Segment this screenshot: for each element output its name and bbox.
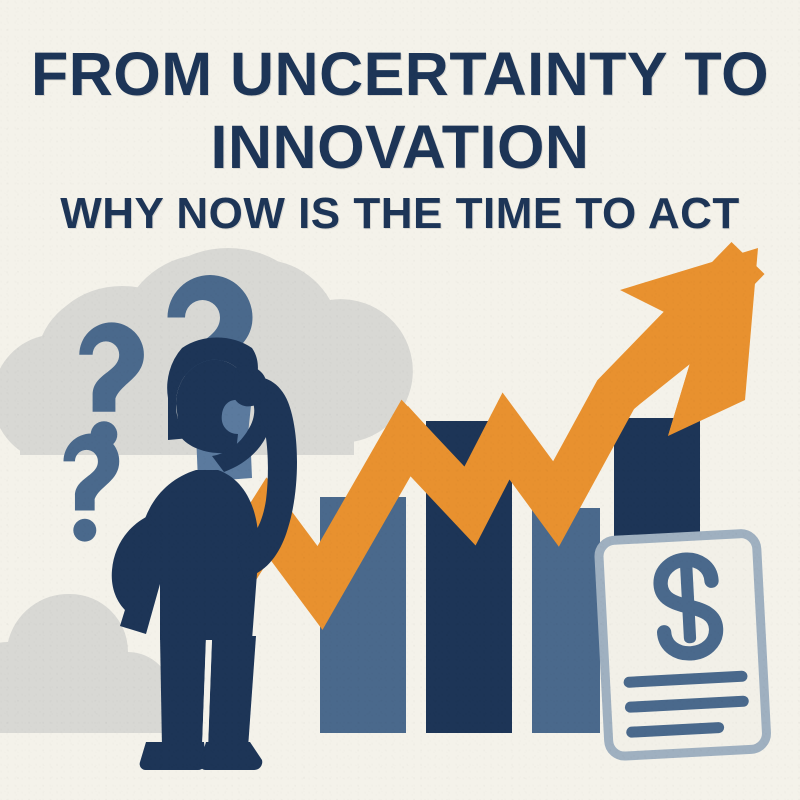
headline-line-2: INNOVATION <box>0 117 800 178</box>
headline-block: FROM UNCERTAINTY TO INNOVATION WHY NOW I… <box>0 44 800 236</box>
poster-canvas: FROM UNCERTAINTY TO INNOVATION WHY NOW I… <box>0 0 800 800</box>
headline-line-1: FROM UNCERTAINTY TO <box>0 44 800 105</box>
headline-line-3: WHY NOW IS THE TIME TO ACT <box>0 192 800 236</box>
